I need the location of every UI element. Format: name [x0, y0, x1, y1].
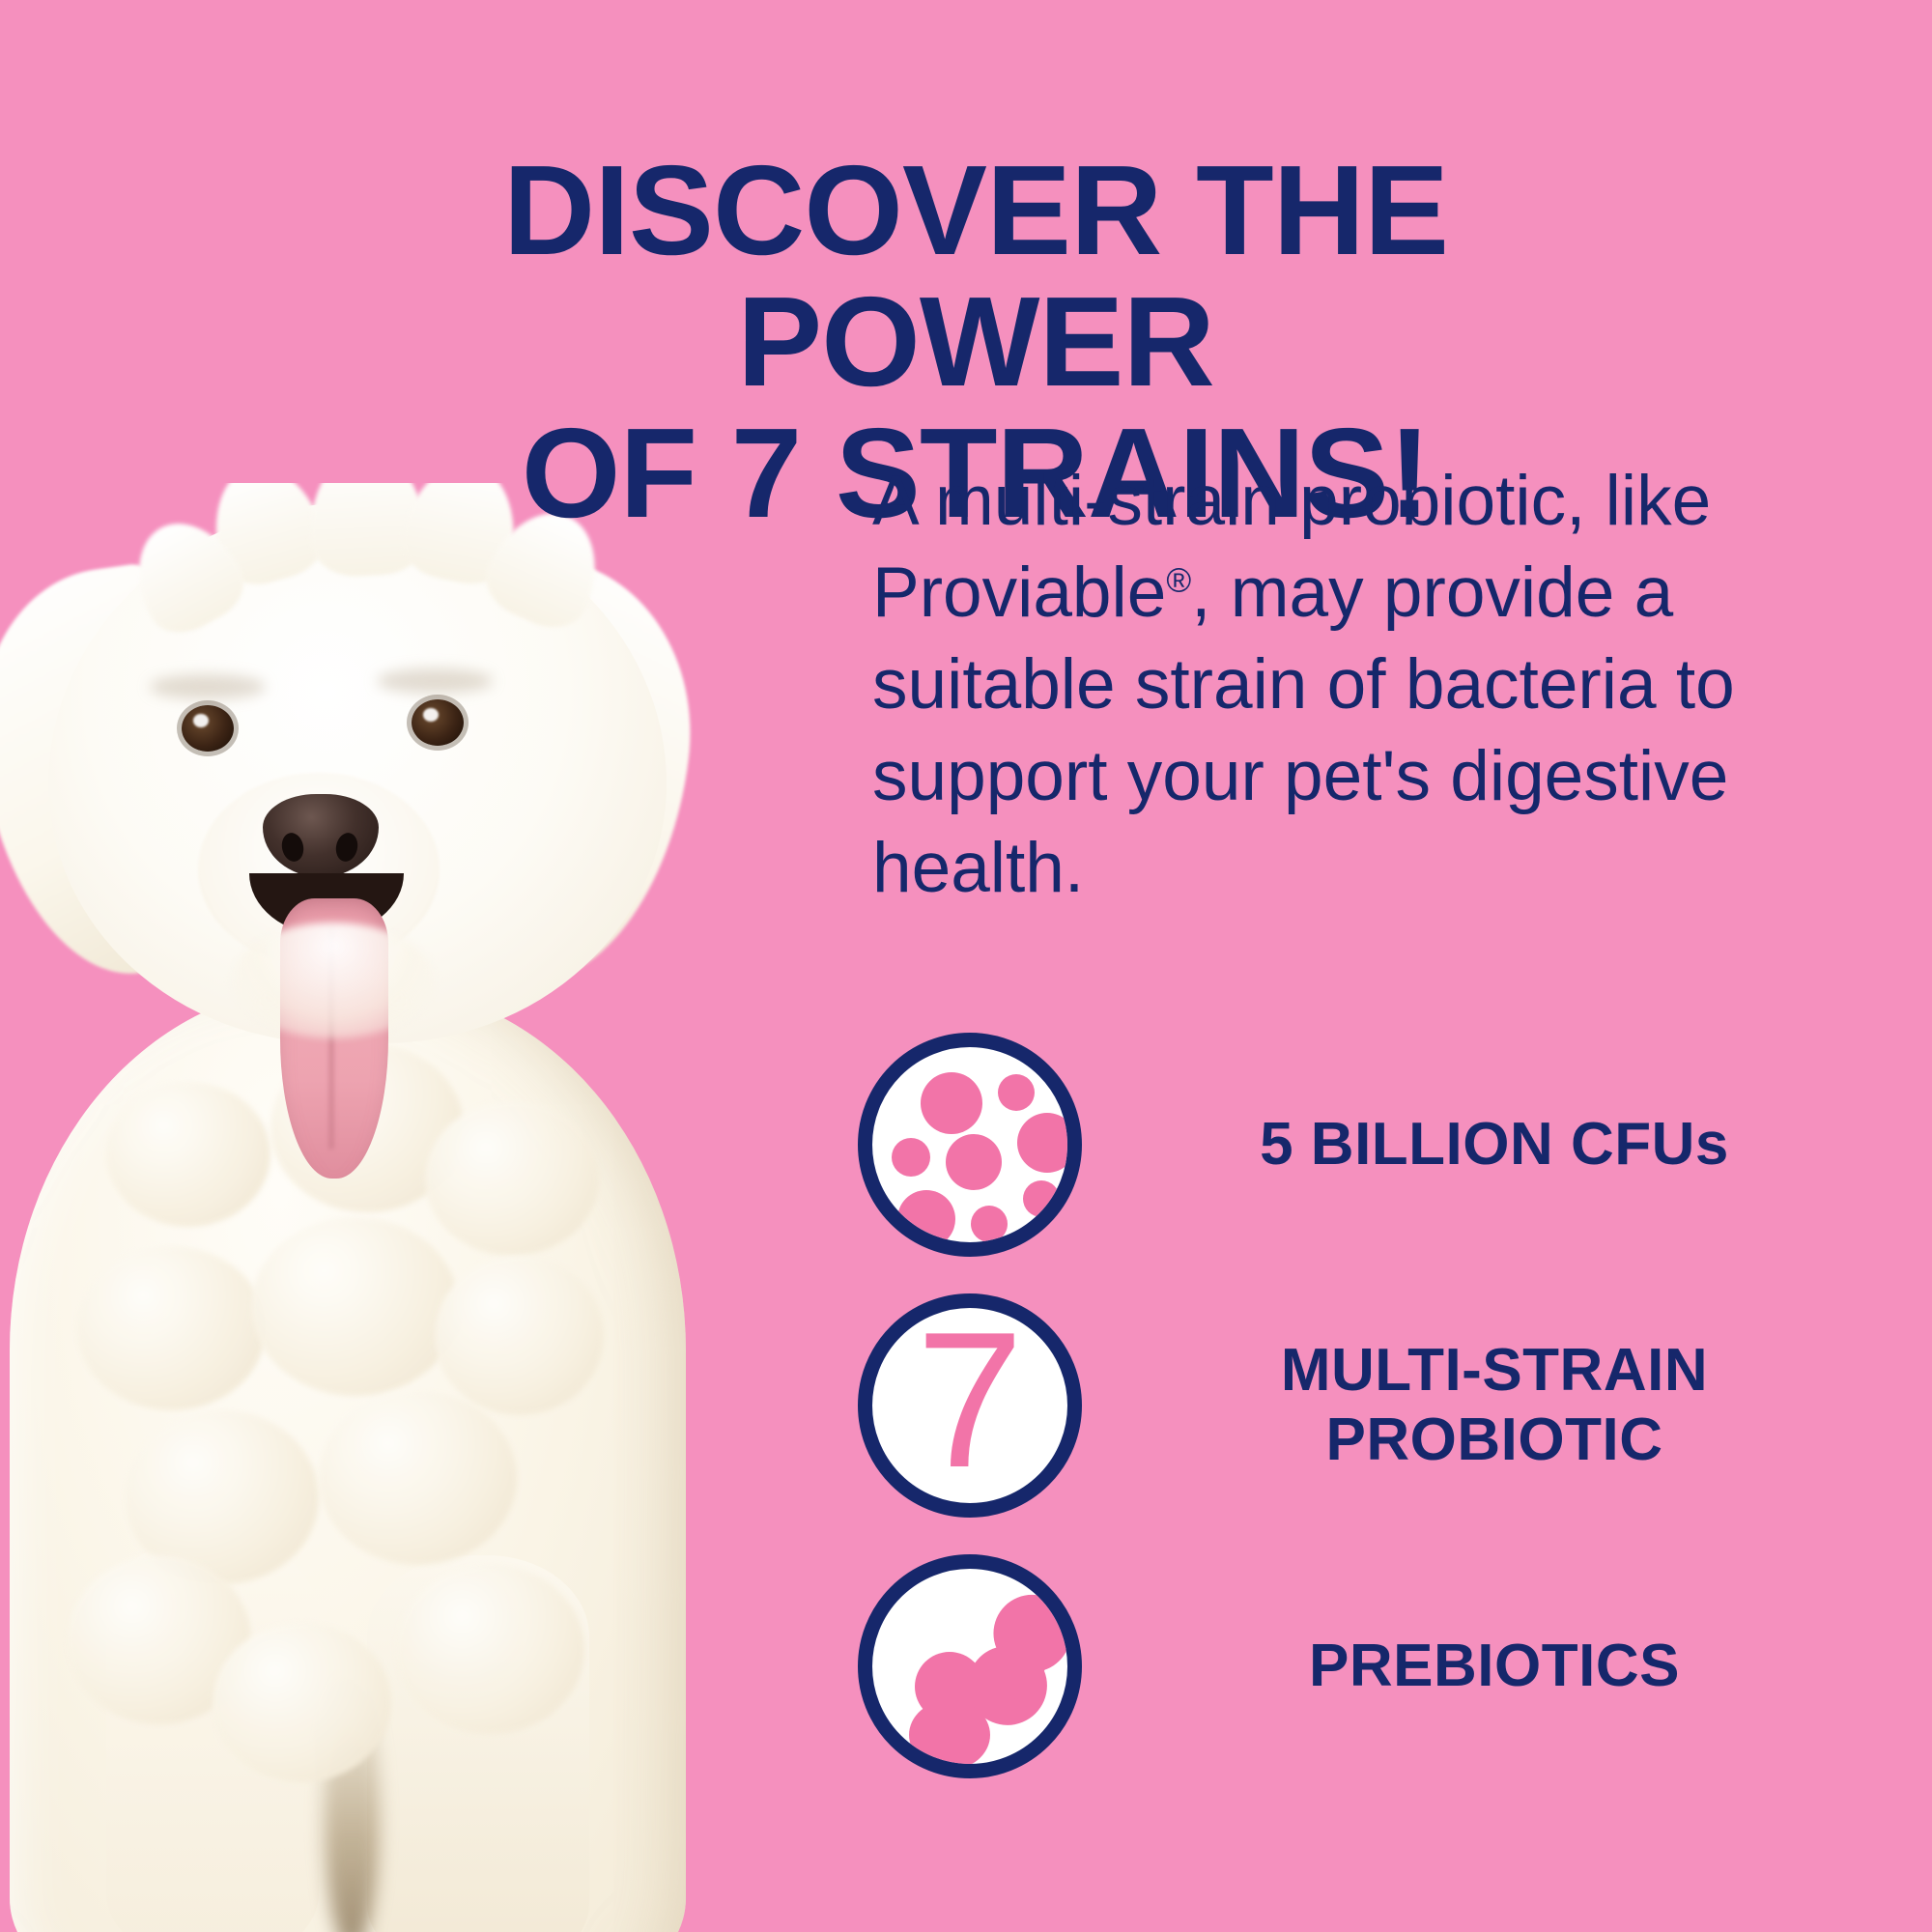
bacteria-cluster-icon	[858, 1033, 1082, 1257]
dog-nostril-right	[333, 831, 360, 864]
bacteria-dot	[921, 1072, 982, 1134]
dog-brow-left	[150, 674, 266, 699]
feature-label-cfus: 5 BILLION CFUs	[1082, 1110, 1882, 1179]
dog-eye-shine	[423, 708, 439, 722]
feature-row-multi-strain: 7 MULTI-STRAIN PROBIOTIC	[858, 1275, 1882, 1536]
dog-eye-left	[182, 705, 234, 752]
feature-list: 5 BILLION CFUs 7 MULTI-STRAIN PROBIOTIC	[858, 1014, 1882, 1797]
promo-poster: DISCOVER THE POWER OF 7 STRAINS! A multi…	[0, 0, 1932, 1932]
dog-eye-shine	[193, 714, 209, 727]
dog-nostril-left	[279, 831, 306, 864]
dog-fur-curl	[77, 1246, 266, 1410]
feature-row-prebiotics: PREBIOTICS	[858, 1536, 1882, 1797]
prebiotic-molecule-icon	[858, 1554, 1082, 1778]
bacteria-dot	[897, 1190, 955, 1248]
dog-fur-curl	[251, 1217, 459, 1396]
registered-trademark-icon: ®	[1166, 562, 1191, 600]
dog-fur-curl	[106, 1082, 270, 1227]
bacteria-dot	[971, 1206, 1008, 1242]
bacteria-dot	[946, 1134, 1002, 1190]
bacteria-dot	[1017, 1113, 1077, 1173]
body-copy: A multi-strain probiotic, like Proviable…	[872, 456, 1790, 914]
number-seven-icon: 7	[858, 1293, 1082, 1518]
dog-eye-right	[412, 699, 464, 746]
number-seven-glyph: 7	[872, 1308, 1067, 1503]
feature-row-cfus: 5 BILLION CFUs	[858, 1014, 1882, 1275]
dog-photo-edge	[531, 947, 753, 1932]
dog-photo	[0, 483, 782, 1932]
bacteria-dot	[1023, 1180, 1060, 1217]
feature-label-multi-strain: MULTI-STRAIN PROBIOTIC	[1082, 1336, 1882, 1475]
dog-fur-curl	[319, 1391, 517, 1565]
bacteria-dot	[998, 1074, 1035, 1111]
bacteria-dot	[892, 1138, 930, 1177]
dog-chin-fur	[232, 923, 435, 1038]
feature-label-prebiotics: PREBIOTICS	[1082, 1632, 1882, 1701]
dog-brow-right	[377, 668, 493, 694]
dog-fur-curl	[213, 1623, 391, 1782]
